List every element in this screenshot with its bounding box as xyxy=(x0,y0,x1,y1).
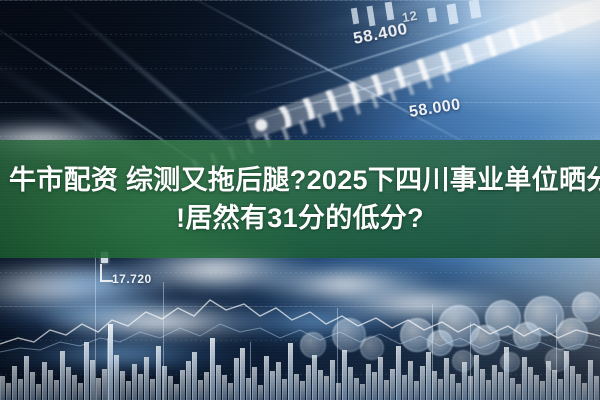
vignette-overlay xyxy=(0,0,600,400)
stock-chart-banner-image: 58.400 58.000 12 17.720 牛市配资 综测又拖后腿?2025… xyxy=(0,0,600,400)
